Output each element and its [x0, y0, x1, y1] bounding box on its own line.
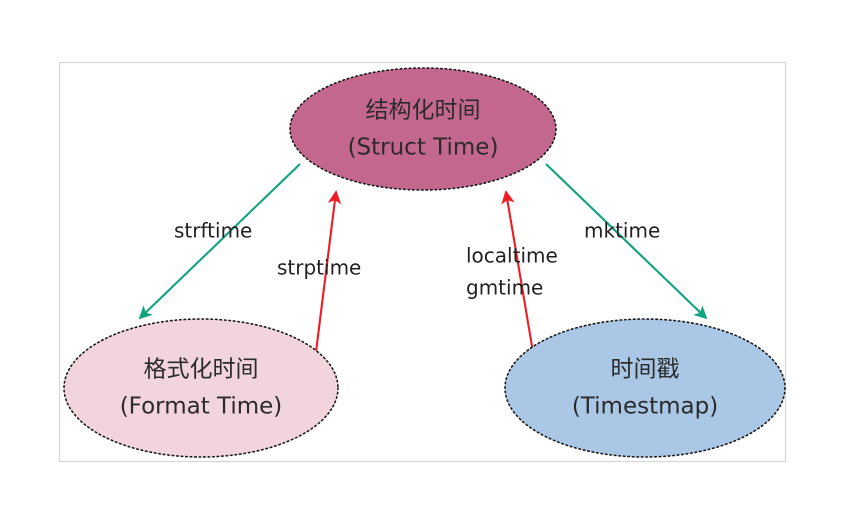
- struct-time-node[interactable]: 结构化时间(Struct Time): [290, 68, 556, 190]
- timestamp-node[interactable]: 时间戳(Timestmap): [505, 319, 785, 457]
- edge-mktime-label: mktime: [584, 219, 660, 243]
- format-time-node-label-en: (Format Time): [120, 394, 283, 420]
- struct-time-node-label-cn: 结构化时间: [366, 98, 481, 124]
- edge-strftime-label: strftime: [174, 219, 252, 243]
- struct-time-node-label-en: (Struct Time): [348, 135, 499, 161]
- timestamp-node-label-en: (Timestmap): [572, 394, 718, 420]
- timestamp-node-shape[interactable]: [505, 319, 785, 457]
- edge-localtime-gmtime-label: localtime: [466, 244, 558, 268]
- format-time-node[interactable]: 格式化时间(Format Time): [64, 319, 338, 457]
- edge-strptime-label: strptime: [277, 256, 361, 280]
- timestamp-node-label-cn: 时间戳: [611, 357, 680, 383]
- format-time-node-label-cn: 格式化时间: [144, 357, 259, 383]
- diagram-root: 结构化时间(Struct Time)格式化时间(Format Time)时间戳(…: [0, 0, 848, 526]
- edge-localtime-gmtime-label-2: gmtime: [466, 276, 543, 300]
- struct-time-node-shape[interactable]: [290, 68, 556, 190]
- format-time-node-shape[interactable]: [64, 319, 338, 457]
- diagram-canvas: 结构化时间(Struct Time)格式化时间(Format Time)时间戳(…: [0, 0, 848, 526]
